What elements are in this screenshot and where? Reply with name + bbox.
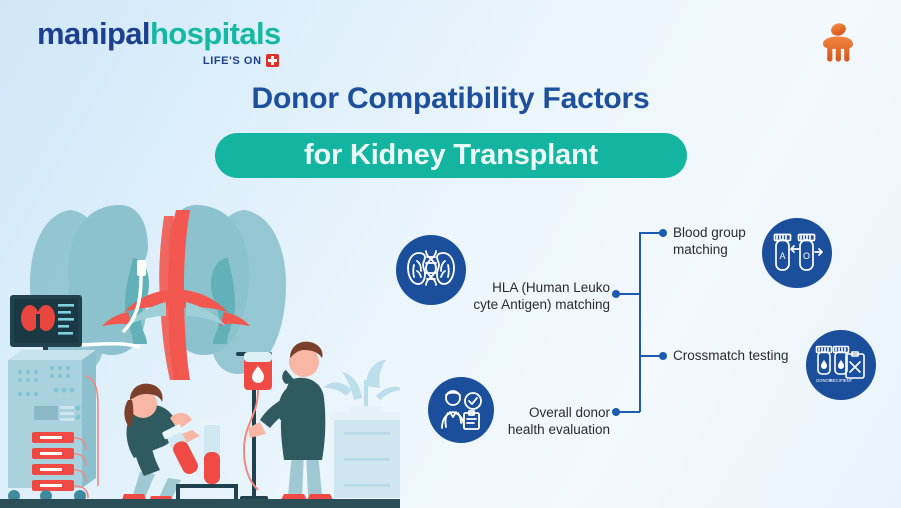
kidney-dialysis-illustration xyxy=(0,200,400,508)
node-label-hla-line1: HLA (Human Leuko xyxy=(420,280,610,297)
page-subtitle-pill: for Kidney Transplant xyxy=(215,133,687,178)
node-label-overall-line2: health evaluation xyxy=(420,422,610,439)
connector-hla xyxy=(617,293,640,295)
svg-text:A: A xyxy=(779,251,785,261)
page-title: Donor Compatibility Factors xyxy=(0,82,901,116)
node-label-overall-line1: Overall donor xyxy=(420,405,610,422)
brand-tagline-row: LIFE'S ON xyxy=(37,54,279,67)
donor-recipient-tubes-clipboard-icon[interactable]: DONOR RECIPIENT xyxy=(806,330,876,400)
connector-trunk xyxy=(639,232,641,412)
connector-overall xyxy=(617,411,640,413)
brand-name-part2: hospitals xyxy=(150,16,281,51)
connector-blood-group xyxy=(639,232,661,234)
node-dot-hla xyxy=(612,290,620,298)
node-label-hla-line2: cyte Antigen) matching xyxy=(420,297,610,314)
tube-label-recipient: RECIPIENT xyxy=(830,378,853,383)
orange-figure-mark-icon xyxy=(817,20,859,64)
node-label-hla: HLA (Human Leuko cyte Antigen) matching xyxy=(420,280,610,314)
brand-tagline: LIFE'S ON xyxy=(203,55,262,67)
node-label-overall-health: Overall donor health evaluation xyxy=(420,405,610,439)
page-subtitle: for Kidney Transplant xyxy=(215,133,687,178)
node-dot-crossmatch xyxy=(659,352,667,360)
connector-crossmatch xyxy=(639,355,661,357)
potted-plant xyxy=(324,360,400,418)
medical-cross-icon xyxy=(266,54,279,67)
side-cabinet xyxy=(330,412,400,498)
node-label-crossmatch-line1: Crossmatch testing xyxy=(673,348,813,365)
node-dot-blood-group xyxy=(659,229,667,237)
dialysis-machine xyxy=(8,350,98,502)
brand-logo: manipalhospitals LIFE'S ON xyxy=(37,18,281,67)
node-label-crossmatch: Crossmatch testing xyxy=(673,348,813,365)
floor-strip xyxy=(0,499,400,508)
node-dot-overall xyxy=(612,408,620,416)
infographic-canvas: manipalhospitals LIFE'S ON Donor Compati… xyxy=(0,0,901,508)
svg-text:O: O xyxy=(803,251,810,261)
brand-name-part1: manipal xyxy=(37,16,150,51)
brand-wordmark: manipalhospitals xyxy=(37,18,281,49)
blood-tubes-ao-icon[interactable]: A O xyxy=(762,218,832,288)
